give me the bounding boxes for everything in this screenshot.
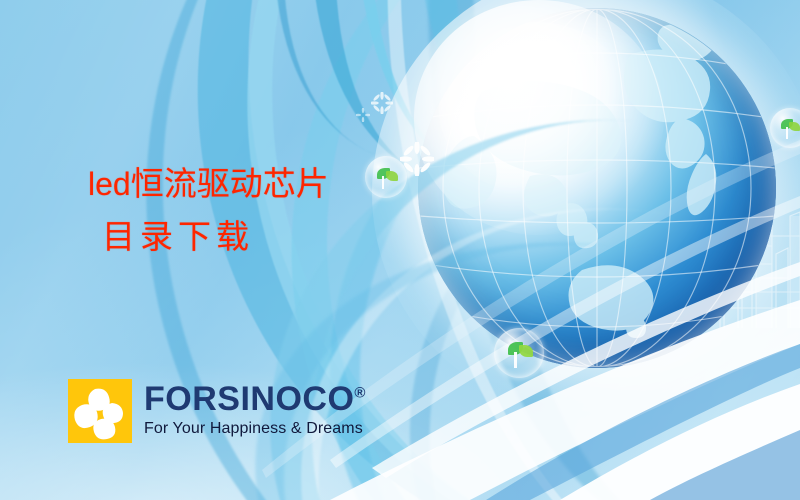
page-title-line2: 目录下载 xyxy=(102,222,418,255)
leaf-icon xyxy=(519,345,533,357)
slide-canvas: led恒流驱动芯片 目录下载 FORSINOCO® For Your Happi… xyxy=(0,0,800,500)
page-title: led恒流驱动芯片 目录下载 xyxy=(88,168,418,255)
brand-logo-text: FORSINOCO® For Your Happiness & Dreams xyxy=(144,379,366,438)
brand-logo: FORSINOCO® For Your Happiness & Dreams xyxy=(68,379,366,443)
bubble-with-green-sprout xyxy=(494,328,544,378)
page-title-latin: led xyxy=(88,166,131,202)
sparkle-flower-icon xyxy=(371,92,393,114)
brand-tagline: For Your Happiness & Dreams xyxy=(144,420,366,438)
page-title-cjk: 恒流驱动芯片 xyxy=(131,167,329,203)
leaf-icon xyxy=(789,122,800,131)
stem xyxy=(786,127,788,139)
four-petal-pinwheel-icon xyxy=(68,379,132,443)
brand-name: FORSINOCO® xyxy=(144,382,366,416)
registered-trademark-symbol: ® xyxy=(354,385,366,402)
page-title-line1: led恒流驱动芯片 xyxy=(88,168,418,202)
brand-name-text: FORSINOCO xyxy=(144,380,354,418)
sparkle-flower-icon xyxy=(356,108,370,122)
stem xyxy=(514,352,517,368)
